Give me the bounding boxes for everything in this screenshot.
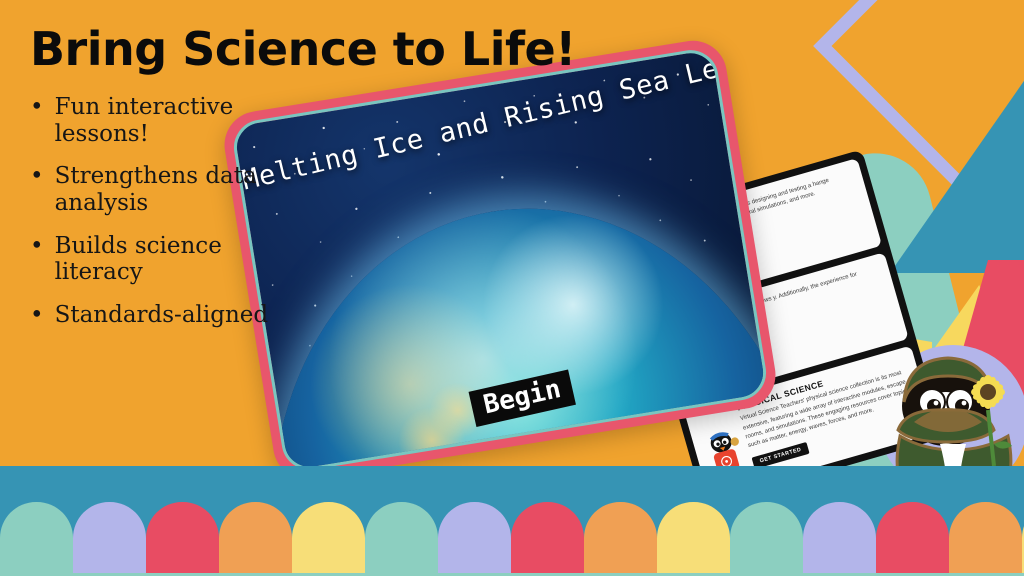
arch-shape [803, 502, 876, 574]
arch-shape [219, 502, 292, 574]
bullet-dot-icon: • [30, 233, 44, 260]
arch-shape [292, 502, 365, 574]
hero-card-inner: Melting Ice and Rising Sea Levels Begin [230, 46, 770, 474]
slide-canvas: arth Science collection includes a invol… [0, 0, 1024, 576]
list-item-label: Standards-aligned [55, 302, 280, 329]
arch-shape [949, 502, 1022, 574]
arch-shape [146, 502, 219, 574]
arch-shape [657, 502, 730, 574]
benefits-list: • Fun interactive lessons! • Strengthens… [30, 94, 280, 345]
list-item: • Standards-aligned [30, 302, 280, 329]
arch-shape [438, 502, 511, 574]
arch-shape [0, 502, 73, 574]
list-item-label: Strengthens data analysis [55, 163, 280, 216]
list-item: • Fun interactive lessons! [30, 94, 280, 147]
bullet-dot-icon: • [30, 94, 44, 121]
arch-shape [584, 502, 657, 574]
arch-shape [876, 502, 949, 574]
arch-pattern [0, 502, 1024, 574]
arch-shape [730, 502, 803, 574]
list-item-label: Builds science literacy [55, 233, 280, 286]
list-item: • Strengthens data analysis [30, 163, 280, 216]
list-item: • Builds science literacy [30, 233, 280, 286]
bullet-dot-icon: • [30, 302, 44, 329]
arch-shape [365, 502, 438, 574]
arch-shape [511, 502, 584, 574]
bullet-dot-icon: • [30, 163, 44, 190]
list-item-label: Fun interactive lessons! [55, 94, 280, 147]
bottom-decorative-band [0, 466, 1024, 576]
page-title: Bring Science to Life! [30, 26, 576, 72]
arch-shape [73, 502, 146, 574]
